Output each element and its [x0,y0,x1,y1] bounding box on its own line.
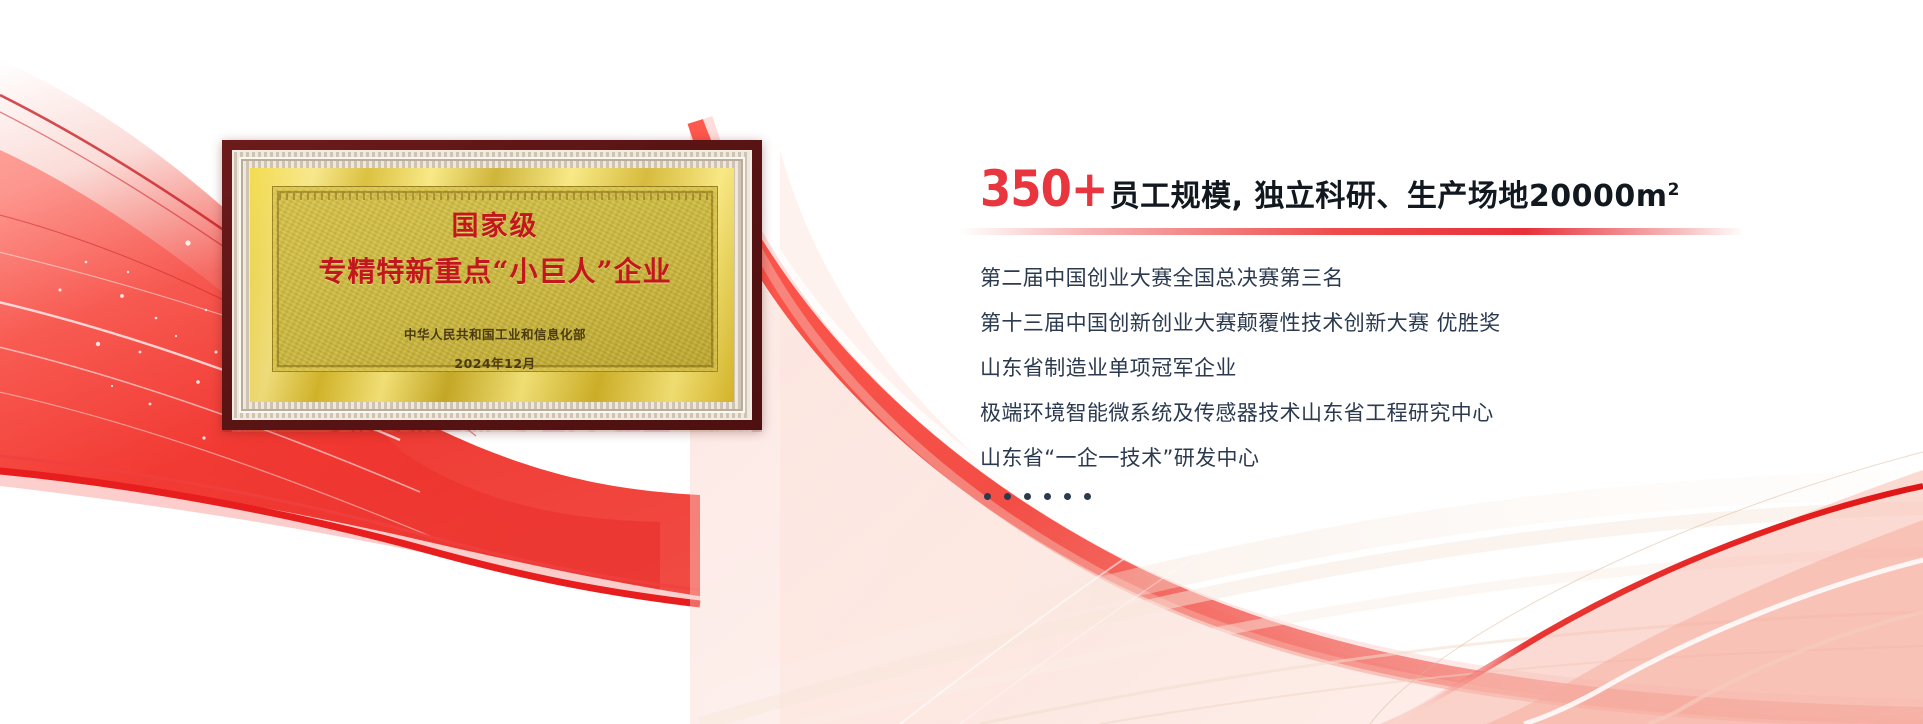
ellipsis-dot [1084,493,1091,500]
headline-text-wrap: 员工规模, 独立科研、生产场地20000m2 [1110,182,1680,212]
plaque-title-line-2: 专精特新重点“小巨人”企业 [318,258,671,286]
list-item: 极端环境智能微系统及传感器技术山东省工程研究中心 [980,403,1501,424]
plaque-issuer: 中华人民共和国工业和信息化部 [404,324,586,343]
plaque-silver-band: 国家级 专精特新重点“小巨人”企业 中华人民共和国工业和信息化部 2024年12… [232,150,752,420]
plaque-footer: 中华人民共和国工业和信息化部 2024年12月 [404,324,586,372]
list-item: 山东省制造业单项冠军企业 [980,358,1501,379]
plaque-date: 2024年12月 [404,353,586,372]
plaque-gold-face: 国家级 专精特新重点“小巨人”企业 中华人民共和国工业和信息化部 2024年12… [250,168,734,402]
ellipsis-dots [984,493,1501,500]
headline-superscript: 2 [1668,180,1680,200]
ellipsis-dot [1044,493,1051,500]
banner-slide: 国家级 专精特新重点“小巨人”企业 中华人民共和国工业和信息化部 2024年12… [0,0,1923,724]
headline-number: 350+ [980,164,1108,214]
plaque-etched-border [277,191,713,367]
ellipsis-dot [1064,493,1071,500]
headline-underline-bar [960,228,1745,235]
headline-text: 员工规模, 独立科研、生产场地20000m [1110,179,1668,214]
ellipsis-dot [1004,493,1011,500]
plaque-text-block: 国家级 专精特新重点“小巨人”企业 中华人民共和国工业和信息化部 2024年12… [273,187,717,371]
ellipsis-dot [1024,493,1031,500]
awards-list: 第二届中国创业大赛全国总决赛第三名 第十三届中国创新创业大赛颠覆性技术创新大赛 … [980,268,1501,500]
plaque-title-line-1: 国家级 [452,213,539,240]
list-item: 第二届中国创业大赛全国总决赛第三名 [980,268,1501,289]
ellipsis-dot [984,493,991,500]
award-plaque: 国家级 专精特新重点“小巨人”企业 中华人民共和国工业和信息化部 2024年12… [222,140,762,430]
plaque-inner-panel: 国家级 专精特新重点“小巨人”企业 中华人民共和国工业和信息化部 2024年12… [272,186,718,372]
content-column: 350+ 员工规模, 独立科研、生产场地20000m2 第二届中国创业大赛全国总… [980,164,1880,214]
headline: 350+ 员工规模, 独立科研、生产场地20000m2 [980,164,1880,214]
list-item: 第十三届中国创新创业大赛颠覆性技术创新大赛 优胜奖 [980,313,1501,334]
list-item: 山东省“一企一技术”研发中心 [980,448,1501,469]
